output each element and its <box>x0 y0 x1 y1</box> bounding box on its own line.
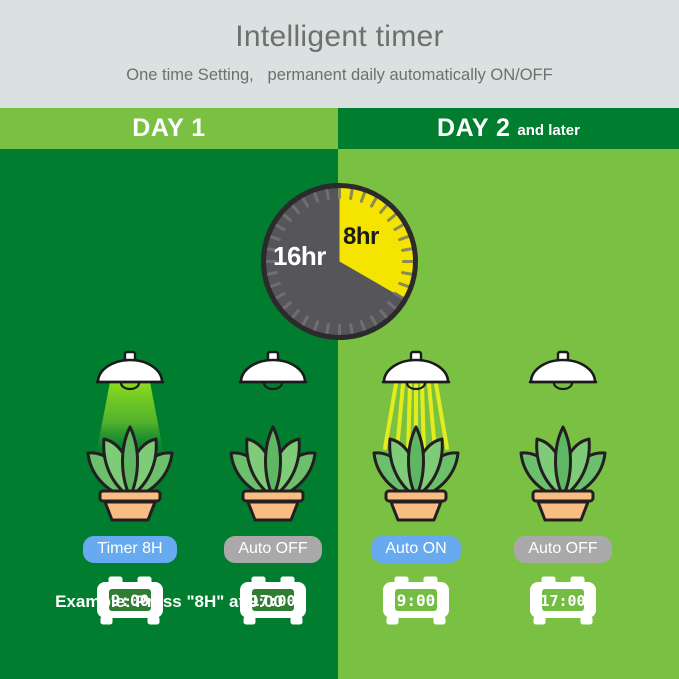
plant-illustration <box>507 417 619 528</box>
alarm-clock-icon: 17:00 <box>526 575 600 627</box>
plant-illustration <box>74 417 186 528</box>
infographic-page: Intelligent timer One time Setting, perm… <box>0 0 679 679</box>
alarm-clock: 9:00 <box>379 575 453 632</box>
potted-plant-icon <box>360 417 472 523</box>
clock-time: 9:00 <box>397 591 436 610</box>
status-badge: Auto OFF <box>514 536 611 563</box>
clock-time: 17:00 <box>540 592 585 610</box>
potted-plant-icon <box>74 417 186 523</box>
status-badge: Auto ON <box>371 536 460 563</box>
alarm-clock-icon: 9:00 <box>379 575 453 627</box>
title-band: Intelligent timer One time Setting, perm… <box>0 0 679 108</box>
timer-dial: 16hr 8hr <box>259 181 420 342</box>
plant-illustration <box>360 417 472 528</box>
dial-on-label: 8hr <box>343 223 379 251</box>
plant-illustration <box>217 417 329 528</box>
day2-header-label: DAY 2 <box>437 114 510 143</box>
status-badge: Timer 8H <box>83 536 176 563</box>
day2-header-sublabel: and later <box>517 122 580 139</box>
status-badge: Auto OFF <box>224 536 321 563</box>
potted-plant-icon <box>217 417 329 523</box>
item-day1-auto-off: Auto OFF 17:00 <box>198 350 348 632</box>
item-day2-auto-off: Auto OFF 17:00 <box>488 350 638 632</box>
page-title: Intelligent timer <box>0 20 679 54</box>
day2-header: DAY 2 and later <box>338 108 679 149</box>
example-caption: Example: Press "8H" at 9:00 <box>0 592 338 612</box>
alarm-clock: 17:00 <box>526 575 600 632</box>
item-day1-timer-on: Timer 8H 9:00 <box>55 350 205 632</box>
day1-header: DAY 1 <box>0 108 338 149</box>
dial-off-label: 16hr <box>273 241 326 272</box>
item-day2-auto-on: Auto ON 9:00 <box>341 350 491 632</box>
day1-header-label: DAY 1 <box>132 114 205 143</box>
potted-plant-icon <box>507 417 619 523</box>
page-subtitle: One time Setting, permanent daily automa… <box>0 66 679 85</box>
